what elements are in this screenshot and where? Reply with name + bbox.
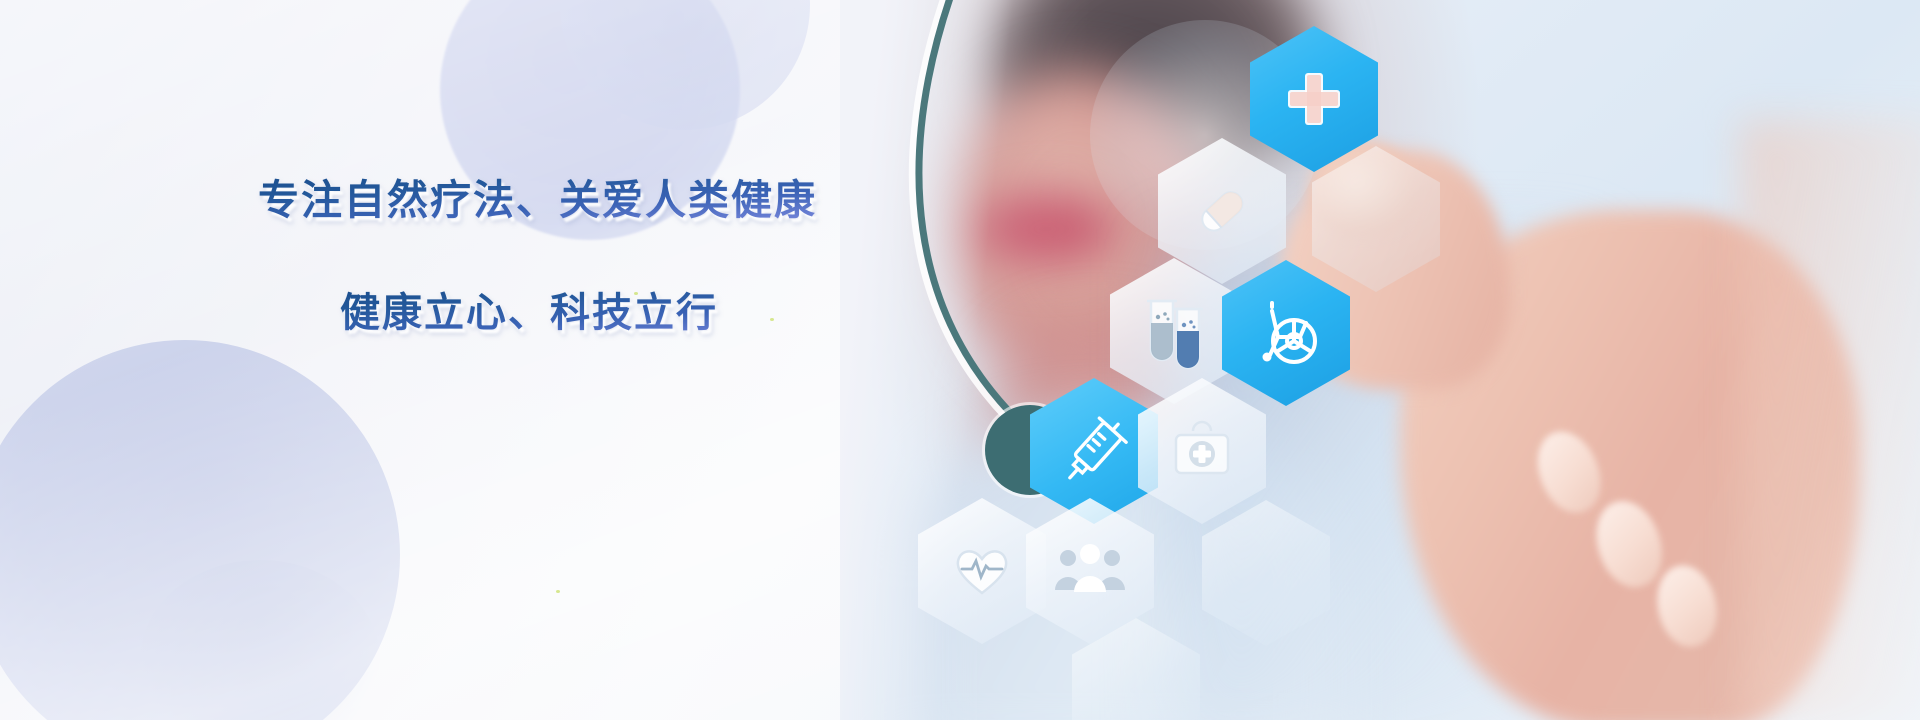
headline-primary: 专注自然疗法、关爱人类健康 [258, 178, 878, 223]
wheelchair-icon [1248, 297, 1324, 369]
health-banner: 专注自然疗法、关爱人类健康 健康立心、科技立行 [0, 0, 1920, 720]
syringe-icon [1054, 411, 1134, 491]
heart-care-icon [949, 541, 1015, 601]
first-aid-kit-icon [1167, 417, 1237, 485]
lime-sparkle-icon [556, 590, 560, 593]
hex-first-aid-kit[interactable] [1138, 378, 1266, 524]
family-group-icon [1053, 542, 1127, 600]
background-blob-bottom-secondary [140, 560, 380, 720]
medical-cross-icon [1283, 68, 1345, 130]
background-blob-bottom [0, 340, 400, 720]
background-blob-top-secondary [560, 0, 810, 130]
test-tubes-icon [1137, 291, 1211, 371]
headline-secondary: 健康立心、科技立行 [340, 291, 878, 335]
banner-photo-panel [840, 0, 1920, 720]
hex-decorative-lower [1202, 500, 1330, 646]
hexagon-icon-cluster [840, 0, 1920, 720]
background-light-wash [0, 0, 900, 720]
pill-capsule-icon [1187, 176, 1257, 246]
hex-wheelchair[interactable] [1222, 260, 1350, 406]
hex-decorative-upper [1312, 146, 1440, 292]
headline-group: 专注自然疗法、关爱人类健康 健康立心、科技立行 [258, 178, 878, 335]
